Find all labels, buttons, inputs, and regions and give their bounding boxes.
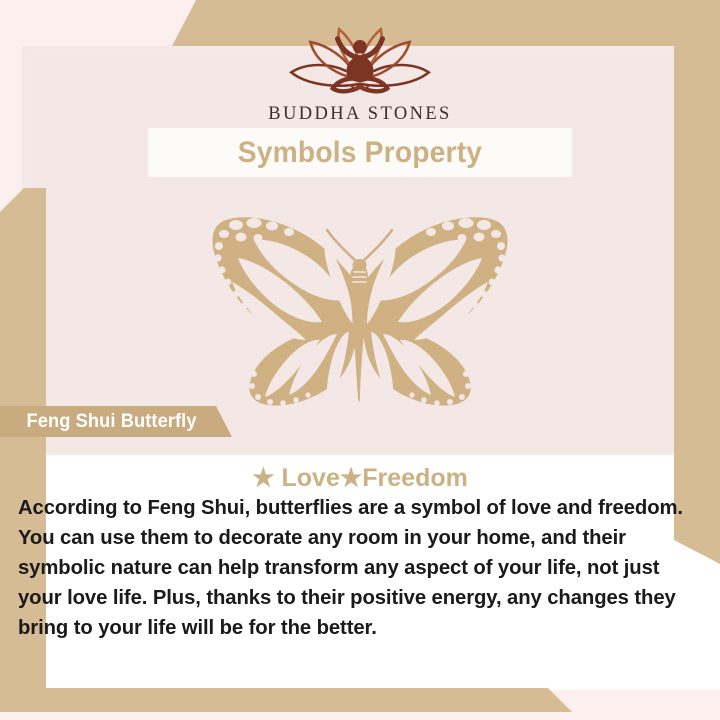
frame-bar-bottom: [0, 688, 600, 712]
lotus-meditation-icon: [280, 26, 440, 98]
promo-banner-page: BUDDHA STONES Symbols Property: [0, 0, 720, 720]
feature-tag-label: Feng Shui Butterfly: [27, 411, 197, 433]
butterfly-illustration: [194, 206, 526, 406]
monarch-butterfly-silhouette: [194, 206, 526, 406]
title-banner: Symbols Property: [148, 128, 572, 177]
content-paragraph: According to Feng Shui, butterflies are …: [18, 493, 696, 643]
brand-name: BUDDHA STONES: [0, 104, 720, 125]
page-title: Symbols Property: [238, 136, 482, 170]
brand-logo: BUDDHA STONES: [0, 26, 720, 125]
content-subheading: ★ Love★Freedom: [0, 463, 720, 493]
feature-tag: Feng Shui Butterfly: [0, 406, 234, 437]
